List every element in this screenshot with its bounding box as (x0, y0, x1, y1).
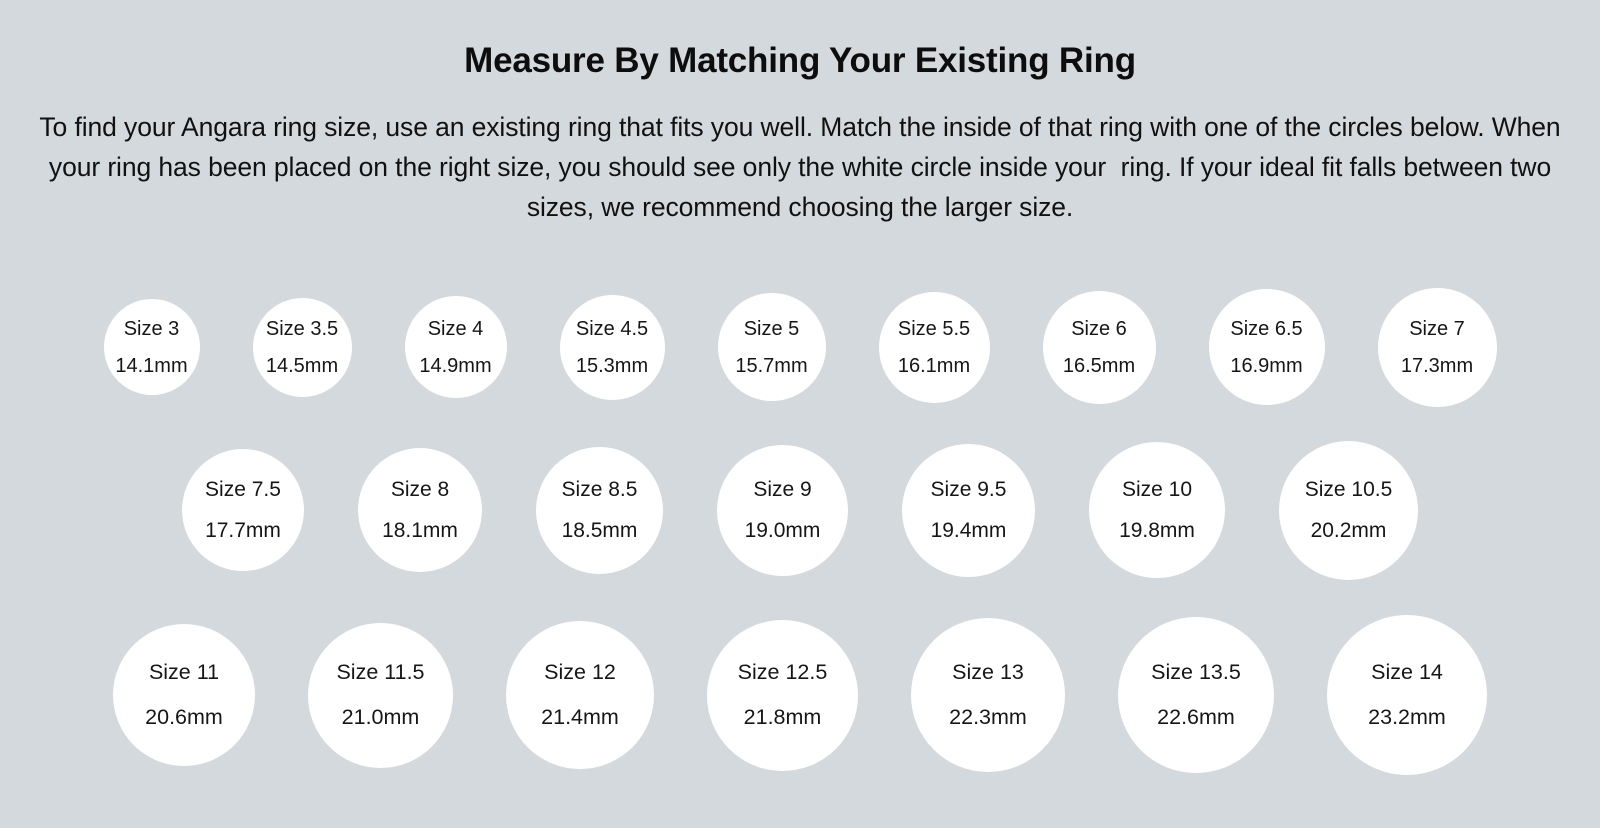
ring-diameter-label: 15.7mm (735, 356, 807, 376)
ring-size-label: Size 10.5 (1305, 479, 1393, 500)
ring-size-label: Size 13 (952, 662, 1024, 684)
ring-size-label: Size 11.5 (336, 662, 424, 684)
ring-size-label: Size 4 (428, 319, 484, 339)
ring-diameter-label: 16.5mm (1063, 356, 1135, 376)
ring-size-label: Size 3 (124, 319, 180, 339)
ring-size-circle[interactable]: Size 7.517.7mm (182, 449, 304, 571)
ring-size-circle[interactable]: Size 919.0mm (717, 445, 848, 576)
ring-size-circle[interactable]: Size 515.7mm (718, 293, 826, 401)
ring-diameter-label: 23.2mm (1368, 707, 1446, 729)
ring-diameter-label: 16.9mm (1230, 356, 1302, 376)
ring-size-circle[interactable]: Size 818.1mm (358, 448, 482, 572)
ring-size-circle[interactable]: Size 717.3mm (1378, 288, 1497, 407)
ring-size-circle[interactable]: Size 4.515.3mm (560, 295, 665, 400)
ring-row-3: Size 1120.6mmSize 11.521.0mmSize 1221.4m… (0, 598, 1600, 792)
ring-size-circle[interactable]: Size 5.516.1mm (879, 292, 990, 403)
ring-size-circle[interactable]: Size 9.519.4mm (902, 444, 1035, 577)
ring-diameter-label: 14.1mm (115, 356, 187, 376)
ring-size-label: Size 10 (1122, 479, 1192, 500)
ring-size-circle[interactable]: Size 8.518.5mm (536, 447, 663, 574)
ring-size-circle[interactable]: Size 12.521.8mm (707, 620, 858, 771)
ring-diameter-label: 15.3mm (576, 356, 648, 376)
ring-size-circle[interactable]: Size 11.521.0mm (308, 623, 453, 768)
ring-diameter-label: 20.2mm (1311, 520, 1387, 541)
ring-size-label: Size 3.5 (266, 319, 338, 339)
ring-diameter-label: 17.7mm (205, 520, 281, 541)
ring-size-circle[interactable]: Size 1221.4mm (506, 621, 654, 769)
ring-diameter-label: 19.0mm (745, 520, 821, 541)
ring-size-circle[interactable]: Size 13.522.6mm (1118, 617, 1274, 773)
ring-size-label: Size 4.5 (576, 319, 648, 339)
ring-size-label: Size 8 (391, 479, 449, 500)
ring-size-chart-page: Measure By Matching Your Existing Ring T… (0, 0, 1600, 828)
ring-size-circle[interactable]: Size 414.9mm (405, 296, 507, 398)
ring-diameter-label: 21.4mm (541, 707, 619, 729)
ring-diameter-label: 21.8mm (744, 707, 822, 729)
ring-size-label: Size 7 (1409, 319, 1465, 339)
ring-size-circle[interactable]: Size 10.520.2mm (1279, 441, 1418, 580)
page-title: Measure By Matching Your Existing Ring (0, 42, 1600, 81)
ring-size-circle[interactable]: Size 616.5mm (1043, 291, 1156, 404)
ring-size-label: Size 12 (544, 662, 616, 684)
ring-diameter-label: 18.1mm (382, 520, 458, 541)
ring-size-circle[interactable]: Size 1423.2mm (1327, 615, 1487, 775)
ring-size-label: Size 6 (1071, 319, 1127, 339)
ring-size-label: Size 14 (1371, 662, 1443, 684)
ring-circle-grid: Size 314.1mmSize 3.514.5mmSize 414.9mmSi… (0, 272, 1600, 792)
ring-size-circle[interactable]: Size 1322.3mm (911, 618, 1065, 772)
ring-size-label: Size 8.5 (562, 479, 638, 500)
ring-size-label: Size 9 (753, 479, 811, 500)
chart-header: Measure By Matching Your Existing Ring T… (0, 0, 1600, 227)
ring-diameter-label: 14.9mm (419, 356, 491, 376)
ring-size-label: Size 5 (744, 319, 800, 339)
ring-diameter-label: 22.3mm (949, 707, 1027, 729)
ring-diameter-label: 14.5mm (266, 356, 338, 376)
instructions-text: To find your Angara ring size, use an ex… (35, 107, 1565, 227)
ring-size-label: Size 5.5 (898, 319, 970, 339)
ring-diameter-label: 17.3mm (1401, 356, 1473, 376)
ring-size-circle[interactable]: Size 1019.8mm (1089, 442, 1225, 578)
ring-diameter-label: 16.1mm (898, 356, 970, 376)
ring-size-label: Size 6.5 (1230, 319, 1302, 339)
ring-diameter-label: 21.0mm (342, 707, 420, 729)
ring-diameter-label: 22.6mm (1157, 707, 1235, 729)
ring-diameter-label: 18.5mm (562, 520, 638, 541)
ring-size-label: Size 11 (149, 662, 219, 684)
ring-size-circle[interactable]: Size 1120.6mm (113, 624, 255, 766)
ring-size-label: Size 9.5 (931, 479, 1007, 500)
ring-size-circle[interactable]: Size 3.514.5mm (253, 298, 352, 397)
ring-size-circle[interactable]: Size 6.516.9mm (1209, 289, 1325, 405)
ring-diameter-label: 19.4mm (931, 520, 1007, 541)
ring-size-label: Size 7.5 (205, 479, 281, 500)
ring-diameter-label: 20.6mm (145, 707, 223, 729)
ring-diameter-label: 19.8mm (1119, 520, 1195, 541)
ring-row-2: Size 7.517.7mmSize 818.1mmSize 8.518.5mm… (0, 422, 1600, 598)
ring-size-circle[interactable]: Size 314.1mm (104, 299, 200, 395)
ring-row-1: Size 314.1mmSize 3.514.5mmSize 414.9mmSi… (0, 272, 1600, 422)
ring-size-label: Size 12.5 (738, 662, 828, 684)
ring-size-label: Size 13.5 (1151, 662, 1241, 684)
